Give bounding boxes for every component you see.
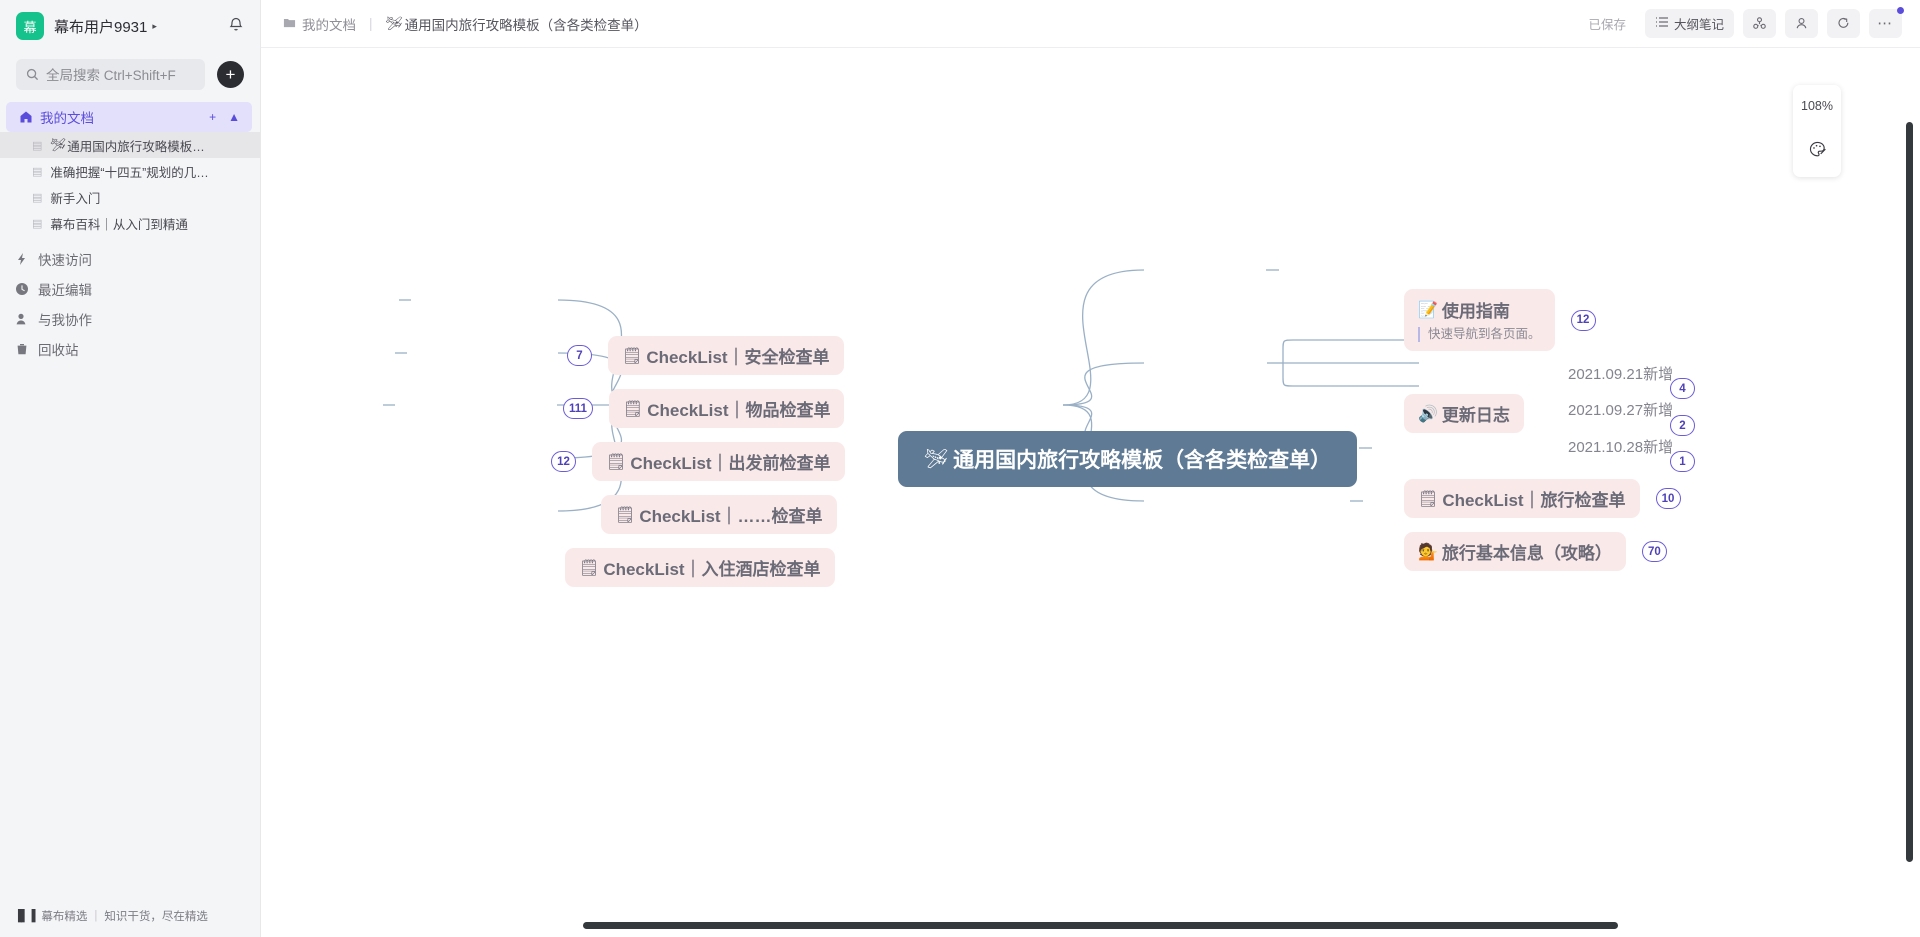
node-label: CheckList｜……检查单 xyxy=(639,502,822,527)
mindmap-right-node-2[interactable]: 🗒 CheckList｜旅行检查单 10 xyxy=(1404,479,1681,518)
vertical-scrollbar[interactable] xyxy=(1906,122,1913,862)
sidebar-nav-label: 与我协作 xyxy=(38,309,92,329)
muban-icon: ▐▌▐ xyxy=(14,910,34,922)
sidebar-nav-label: 快速访问 xyxy=(38,249,92,269)
sidebar-nav: 快速访问最近编辑与我协作回收站 xyxy=(0,244,260,363)
topbar-actions: 已保存 大纲笔记 xyxy=(1588,9,1902,38)
doc-icon: ▤ xyxy=(32,217,42,230)
node-label: 更新日志 xyxy=(1442,401,1510,426)
mindmap-left-node-1[interactable]: 111 🗒 CheckList｜物品检查单 xyxy=(563,389,844,428)
save-status: 已保存 xyxy=(1588,14,1626,33)
checklist-icon: 🗒 xyxy=(615,505,635,525)
folder-icon xyxy=(283,16,296,32)
document-item[interactable]: ▤准确把握“十四五”规划的几… xyxy=(0,158,260,184)
mindmap-right-node-1[interactable]: 🔊 更新日志 xyxy=(1404,394,1524,433)
mindmap-right-node-3[interactable]: 💁 旅行基本信息（攻略） 70 xyxy=(1404,532,1667,571)
mindmap-left-node-0[interactable]: 7 🗒 CheckList｜安全检查单 xyxy=(567,336,844,375)
outline-notes-label: 大纲笔记 xyxy=(1674,14,1724,33)
checklist-icon: 🗒 xyxy=(623,399,643,419)
new-document-button[interactable]: + xyxy=(217,61,244,88)
main-area: 我的文档 | 🛩 通用国内旅行攻略模板（含各类检查单） 已保存 大纲笔记 xyxy=(261,0,1920,937)
node-label: 旅行基本信息（攻略） xyxy=(1442,539,1612,564)
horizontal-scrollbar[interactable] xyxy=(583,922,1618,929)
zoom-level[interactable]: 108% xyxy=(1801,99,1833,113)
search-placeholder: 全局搜索 Ctrl+Shift+F xyxy=(46,64,176,84)
node-title: 📝 使用指南 xyxy=(1418,297,1510,322)
footer-tagline: 知识干货，尽在精选 xyxy=(104,908,208,924)
node-count-badge[interactable]: 70 xyxy=(1642,541,1667,562)
document-item[interactable]: ▤🛩通用国内旅行攻略模板… xyxy=(0,132,260,158)
node-subtitle: 快速导航到各页面。 xyxy=(1418,327,1541,342)
sidebar-search-row: 全局搜索 Ctrl+Shift+F + xyxy=(0,52,260,96)
collapse-icon[interactable]: ▲ xyxy=(228,110,240,124)
zoom-panel[interactable]: 108% xyxy=(1793,85,1841,177)
checklist-icon: 🗒 xyxy=(606,452,626,472)
changelog-item-1-label[interactable]: 2021.09.27新增 xyxy=(1568,399,1673,420)
sidebar-section-actions: + ▲ xyxy=(209,110,240,124)
document-list: ▤🛩通用国内旅行攻略模板…▤准确把握“十四五”规划的几…▤新手入门▤幕布百科｜从… xyxy=(0,132,260,236)
changelog-item-0-badge-wrap[interactable]: 4 xyxy=(1670,378,1695,399)
node-box[interactable]: 🗒 CheckList｜出发前检查单 xyxy=(592,442,845,481)
node-count-badge[interactable]: 12 xyxy=(1571,310,1596,331)
breadcrumb-current[interactable]: 🛩 通用国内旅行攻略模板（含各类检查单） xyxy=(386,14,648,34)
changelog-item-1-badge-wrap[interactable]: 2 xyxy=(1670,415,1695,436)
sidebar-section-label: 我的文档 xyxy=(40,107,94,127)
sidebar-item-my-documents[interactable]: 我的文档 + ▲ xyxy=(6,102,252,132)
sidebar-nav-item[interactable]: 与我协作 xyxy=(0,304,260,333)
node-label: 使用指南 xyxy=(1442,297,1510,322)
document-item-emoji: 🛩 xyxy=(50,138,66,153)
node-label: CheckList｜入住酒店检查单 xyxy=(603,555,820,580)
footer-brand: 幕布精选 xyxy=(41,908,87,924)
trash-icon xyxy=(12,342,32,356)
mindmap-canvas[interactable]: 🛩 通用国内旅行攻略模板（含各类检查单） 7 🗒 CheckList｜安全检查单… xyxy=(261,48,1920,937)
document-item-label: 准确把握“十四五”规划的几… xyxy=(50,162,208,181)
document-item[interactable]: ▤新手入门 xyxy=(0,184,260,210)
chevron-right-icon[interactable]: ▸ xyxy=(152,21,157,32)
speaker-icon: 🔊 xyxy=(1418,404,1438,424)
palette-icon[interactable] xyxy=(1808,140,1827,164)
mindmap-left-node-2[interactable]: 12 🗒 CheckList｜出发前检查单 xyxy=(551,442,845,481)
node-box[interactable]: 🗒 CheckList｜安全检查单 xyxy=(608,336,844,375)
sidebar-footer[interactable]: ▐▌▐ 幕布精选 | 知识干货，尽在精选 xyxy=(0,895,260,937)
sidebar-nav-item[interactable]: 回收站 xyxy=(0,334,260,363)
node-count-badge[interactable]: 10 xyxy=(1656,488,1681,509)
node-count-badge[interactable]: 2 xyxy=(1670,415,1695,436)
node-count-badge[interactable]: 4 xyxy=(1670,378,1695,399)
node-label: CheckList｜物品检查单 xyxy=(647,396,830,421)
checklist-icon: 🗒 xyxy=(579,558,599,578)
changelog-item-0-label[interactable]: 2021.09.21新增 xyxy=(1568,363,1673,384)
breadcrumb-current-label: 通用国内旅行攻略模板（含各类检查单） xyxy=(405,14,648,34)
node-count-badge[interactable]: 1 xyxy=(1670,451,1695,472)
sidebar-nav-item[interactable]: 快速访问 xyxy=(0,244,260,273)
document-item-label: 新手入门 xyxy=(50,188,100,207)
outline-notes-button[interactable]: 大纲笔记 xyxy=(1645,9,1734,38)
checklist-icon: 🗒 xyxy=(1418,489,1438,509)
person-tipping-hand-icon: 💁 xyxy=(1418,542,1438,562)
airplane-icon: 🛩 xyxy=(924,447,948,471)
add-document-icon[interactable]: + xyxy=(209,110,216,124)
mindmap-left-node-4[interactable]: 🗒 CheckList｜入住酒店检查单 xyxy=(565,548,835,587)
mindmap-left-node-3[interactable]: 🗒 CheckList｜……检查单 xyxy=(601,495,837,534)
app-root: 幕 幕布用户9931 ▸ 全局搜索 Ctrl+Shift+F + xyxy=(0,0,1920,937)
document-item[interactable]: ▤幕布百科｜从入门到精通 xyxy=(0,210,260,236)
mindmap-center-node[interactable]: 🛩 通用国内旅行攻略模板（含各类检查单） xyxy=(898,431,1357,487)
changelog-item-2-badge-wrap[interactable]: 1 xyxy=(1670,451,1695,472)
node-box[interactable]: 🗒 CheckList｜旅行检查单 xyxy=(1404,479,1640,518)
node-box[interactable]: 🗒 CheckList｜……检查单 xyxy=(601,495,837,534)
doc-icon: ▤ xyxy=(32,165,42,178)
doc-icon: ▤ xyxy=(32,191,42,204)
node-box[interactable]: 🔊 更新日志 xyxy=(1404,394,1524,433)
search-icon xyxy=(26,68,39,81)
checklist-icon: 🗒 xyxy=(622,346,642,366)
list-icon xyxy=(1655,16,1669,31)
center-node-label: 通用国内旅行攻略模板（含各类检查单） xyxy=(953,444,1331,474)
breadcrumb-divider: | xyxy=(369,16,373,31)
more-dots-icon[interactable]: ⋯ xyxy=(1869,9,1902,38)
home-icon xyxy=(16,110,36,124)
user-name[interactable]: 幕布用户9931 xyxy=(54,16,147,37)
lightning-icon xyxy=(12,252,32,266)
node-label: CheckList｜旅行检查单 xyxy=(1442,486,1625,511)
user-icon[interactable] xyxy=(1785,9,1818,38)
notification-dot xyxy=(1897,7,1904,14)
topbar: 我的文档 | 🛩 通用国内旅行攻略模板（含各类检查单） 已保存 大纲笔记 xyxy=(261,0,1920,48)
memo-icon: 📝 xyxy=(1418,300,1438,320)
node-label: CheckList｜安全检查单 xyxy=(646,343,829,368)
footer-separator: | xyxy=(94,910,97,922)
sidebar-header: 幕 幕布用户9931 ▸ xyxy=(0,0,260,52)
node-count-badge[interactable]: 111 xyxy=(563,398,593,419)
sidebar: 幕 幕布用户9931 ▸ 全局搜索 Ctrl+Shift+F + xyxy=(0,0,261,937)
node-label: CheckList｜出发前检查单 xyxy=(630,449,830,474)
node-count-badge[interactable]: 7 xyxy=(567,345,592,366)
clock-icon xyxy=(12,282,32,296)
mindmap-right-node-0[interactable]: 📝 使用指南 快速导航到各页面。 12 xyxy=(1404,289,1596,351)
node-box[interactable]: 🗒 CheckList｜物品检查单 xyxy=(609,389,845,428)
changelog-item-2-label[interactable]: 2021.10.28新增 xyxy=(1568,436,1673,457)
sidebar-nav-label: 回收站 xyxy=(38,339,79,359)
person-icon xyxy=(12,312,32,326)
breadcrumb-root[interactable]: 我的文档 xyxy=(302,14,356,34)
node-box[interactable]: 📝 使用指南 快速导航到各页面。 xyxy=(1404,289,1555,351)
node-box[interactable]: 💁 旅行基本信息（攻略） xyxy=(1404,532,1626,571)
bell-icon[interactable] xyxy=(228,16,244,37)
node-count-badge[interactable]: 12 xyxy=(551,451,576,472)
document-item-label: 通用国内旅行攻略模板… xyxy=(67,136,205,155)
doc-icon: ▤ xyxy=(32,139,42,152)
search-input[interactable]: 全局搜索 Ctrl+Shift+F xyxy=(16,59,205,90)
node-box[interactable]: 🗒 CheckList｜入住酒店检查单 xyxy=(565,548,835,587)
breadcrumb-emoji: 🛩 xyxy=(386,16,403,32)
center-node-box[interactable]: 🛩 通用国内旅行攻略模板（含各类检查单） xyxy=(898,431,1357,487)
sidebar-nav-item[interactable]: 最近编辑 xyxy=(0,274,260,303)
app-logo: 幕 xyxy=(16,12,44,40)
breadcrumb: 我的文档 | 🛩 通用国内旅行攻略模板（含各类检查单） xyxy=(283,14,648,34)
refresh-share-icon[interactable] xyxy=(1827,9,1860,38)
share-users-icon[interactable] xyxy=(1743,9,1776,38)
document-item-label: 幕布百科｜从入门到精通 xyxy=(50,214,188,233)
sidebar-nav-label: 最近编辑 xyxy=(38,279,92,299)
